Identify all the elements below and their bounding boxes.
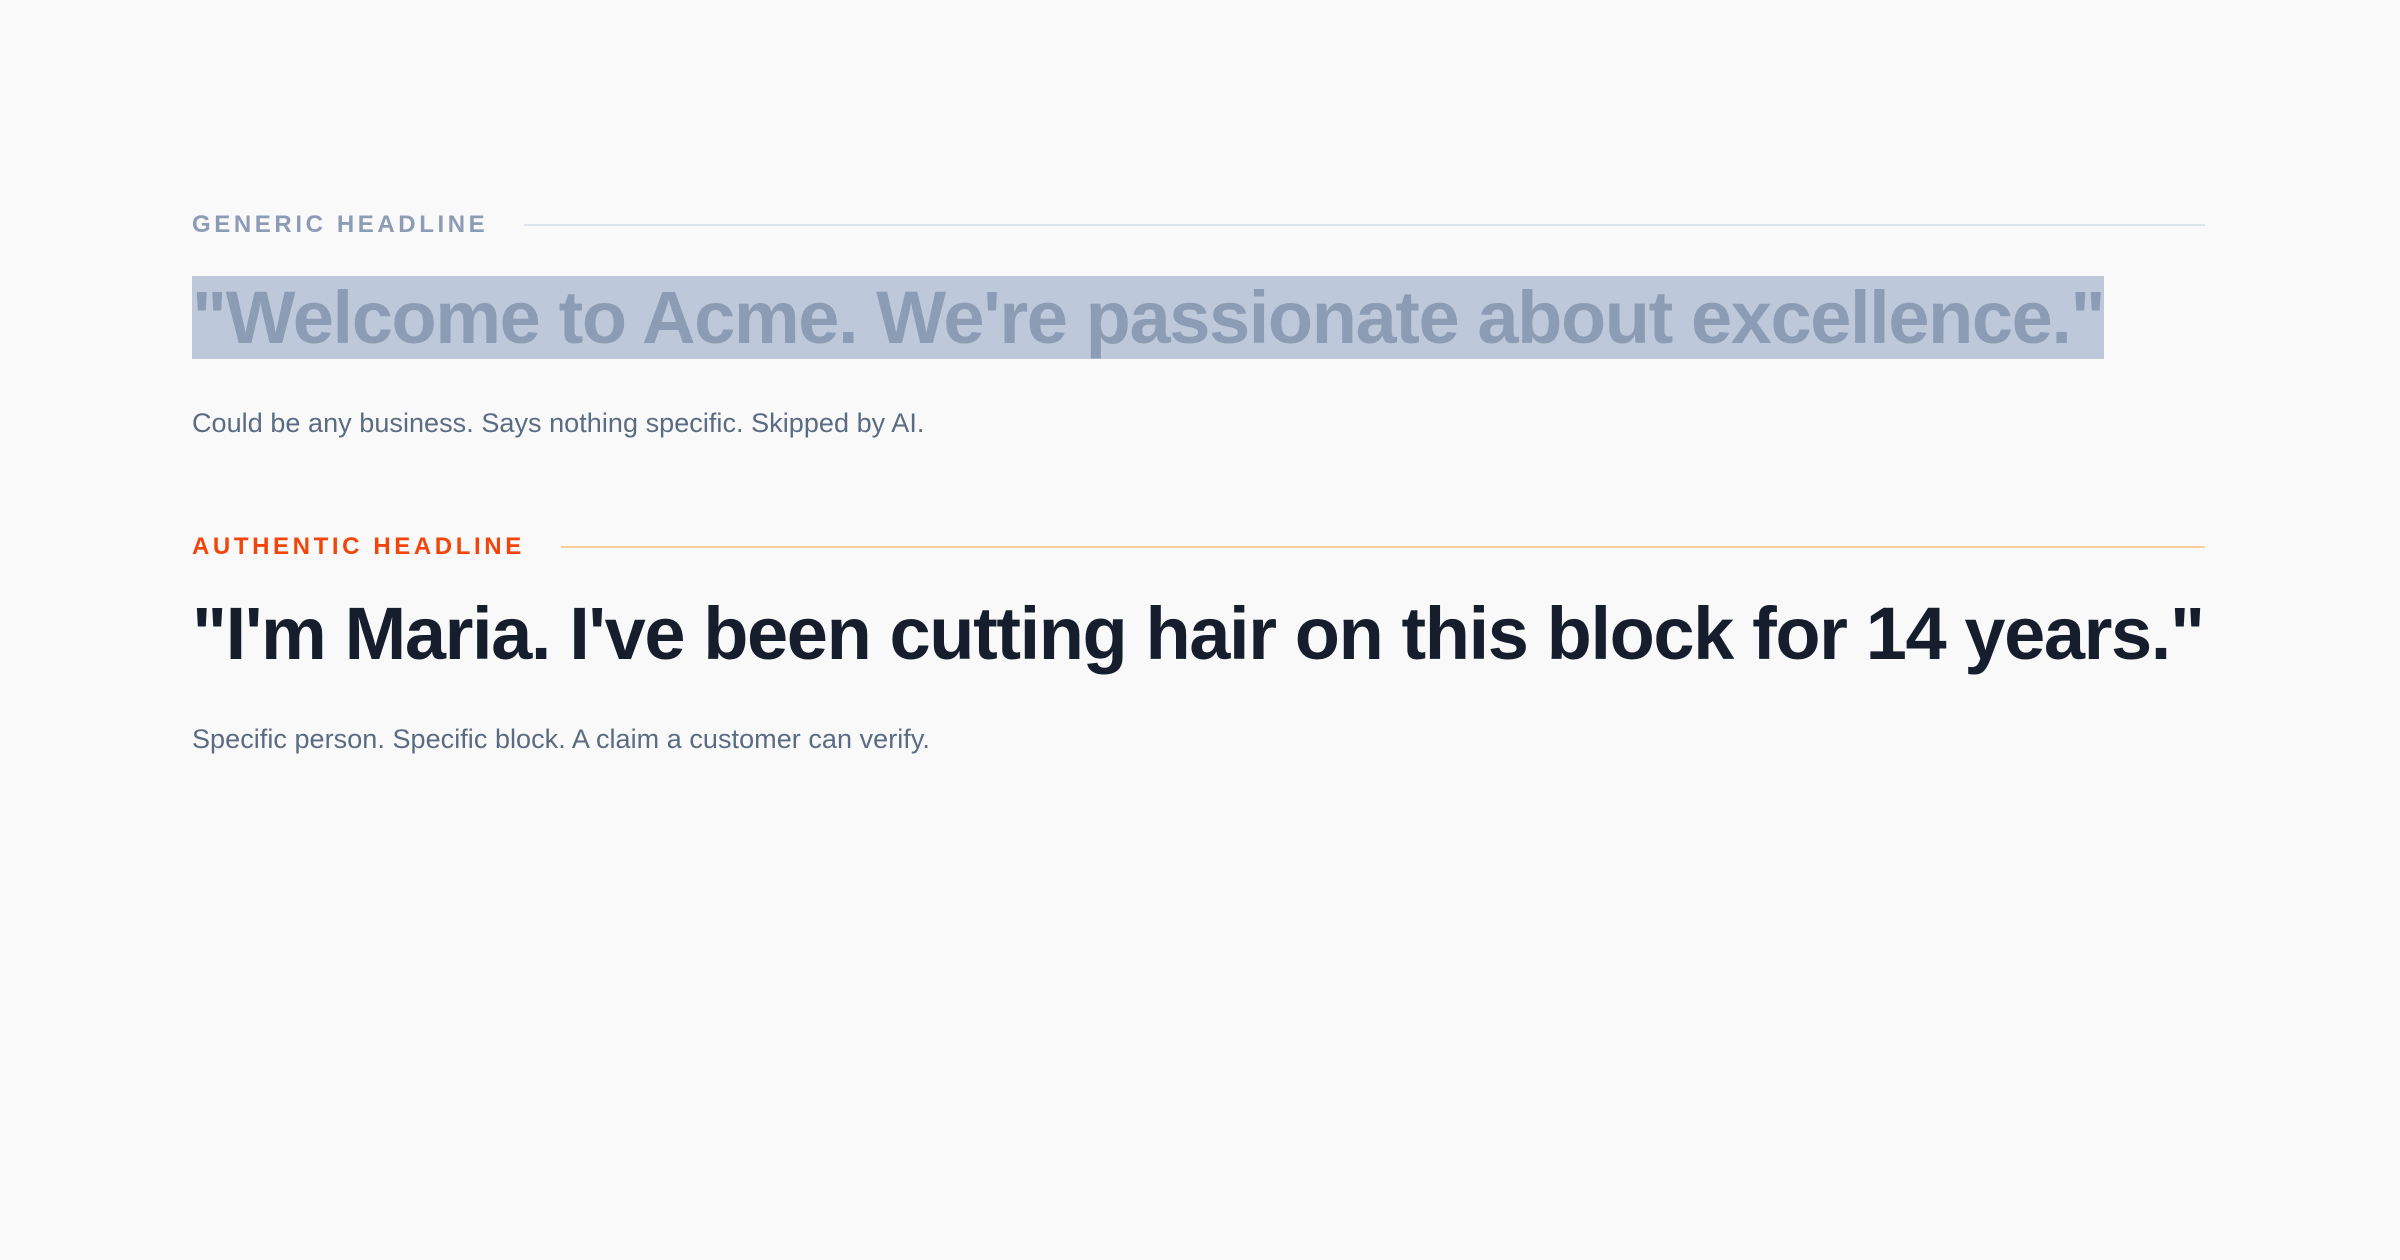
generic-headline-block: GENERIC HEADLINE "Welcome to Acme. We're… bbox=[192, 0, 2205, 443]
authentic-eyebrow-rule bbox=[561, 546, 2205, 548]
generic-eyebrow-rule bbox=[524, 224, 2205, 226]
authentic-eyebrow-label: AUTHENTIC HEADLINE bbox=[192, 535, 525, 559]
generic-eyebrow-label: GENERIC HEADLINE bbox=[192, 213, 488, 237]
authentic-headline-heading: "I'm Maria. I've been cutting hair on th… bbox=[192, 593, 2205, 676]
generic-headline-caption: Could be any business. Says nothing spec… bbox=[192, 404, 2205, 443]
generic-headline-wrap: "Welcome to Acme. We're passionate about… bbox=[192, 277, 2205, 360]
authentic-headline-caption: Specific person. Specific block. A claim… bbox=[192, 720, 2205, 759]
authentic-headline-wrap: "I'm Maria. I've been cutting hair on th… bbox=[192, 593, 2205, 676]
authentic-headline-text: "I'm Maria. I've been cutting hair on th… bbox=[192, 592, 2204, 675]
authentic-headline-block: AUTHENTIC HEADLINE "I'm Maria. I've been… bbox=[192, 443, 2205, 759]
comparison-canvas: GENERIC HEADLINE "Welcome to Acme. We're… bbox=[0, 0, 2400, 1260]
generic-eyebrow-row: GENERIC HEADLINE bbox=[192, 213, 2205, 237]
authentic-eyebrow-row: AUTHENTIC HEADLINE bbox=[192, 535, 2205, 559]
generic-headline-heading: "Welcome to Acme. We're passionate about… bbox=[192, 277, 2205, 360]
generic-headline-text: "Welcome to Acme. We're passionate about… bbox=[192, 276, 2104, 359]
